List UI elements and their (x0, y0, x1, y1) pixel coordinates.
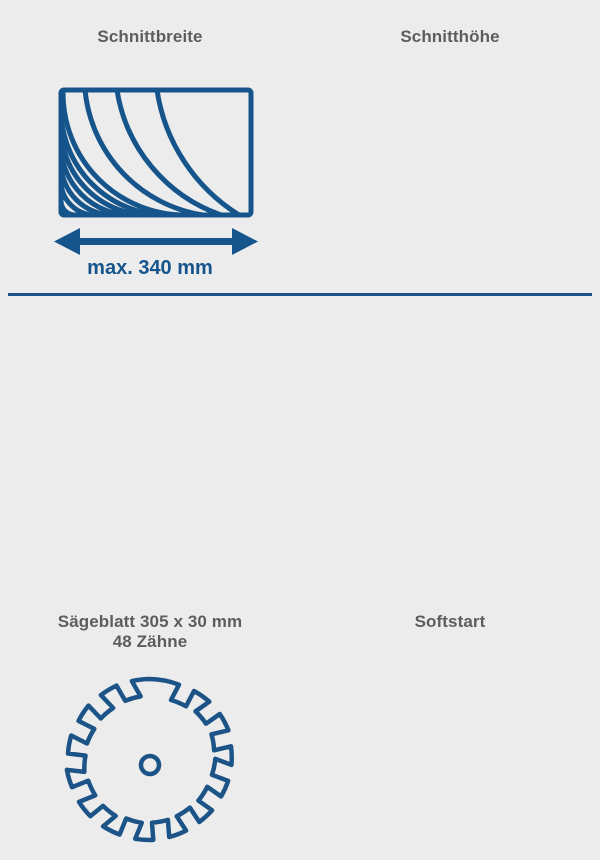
panel-cut-width-heading: Schnittbreite (0, 27, 300, 47)
wood-grain-rings (61, 90, 239, 215)
horizontal-double-arrow-icon (54, 228, 258, 255)
saw-blade-heading-line1: Sägeblatt 305 x 30 mm (0, 612, 300, 632)
saw-blade-heading-line2: 48 Zähne (0, 632, 300, 652)
panel-saw-blade-heading: Sägeblatt 305 x 30 mm 48 Zähne (0, 612, 300, 652)
panel-soft-start: Softstart SOFT START (300, 300, 600, 600)
cut-width-illustration: max. 340 mm (40, 75, 260, 280)
panel-cut-width: Schnittbreite (0, 0, 300, 295)
circular-saw-blade-icon (55, 670, 232, 840)
panel-cut-height-heading: Schnitthöhe (300, 27, 600, 47)
panel-soft-start-heading: Softstart (300, 612, 600, 632)
panel-saw-blade: Sägeblatt 305 x 30 mm 48 Zähne (0, 300, 300, 600)
saw-blade-illustration (55, 670, 245, 860)
cut-width-dimension-label: max. 340 mm (87, 257, 213, 279)
panel-cut-height: Schnitthöhe (300, 0, 600, 295)
section-divider (8, 293, 592, 296)
product-feature-infographic: Schnittbreite (0, 0, 600, 600)
wood-block-icon (61, 90, 251, 215)
blade-arbor-hole (141, 756, 159, 774)
